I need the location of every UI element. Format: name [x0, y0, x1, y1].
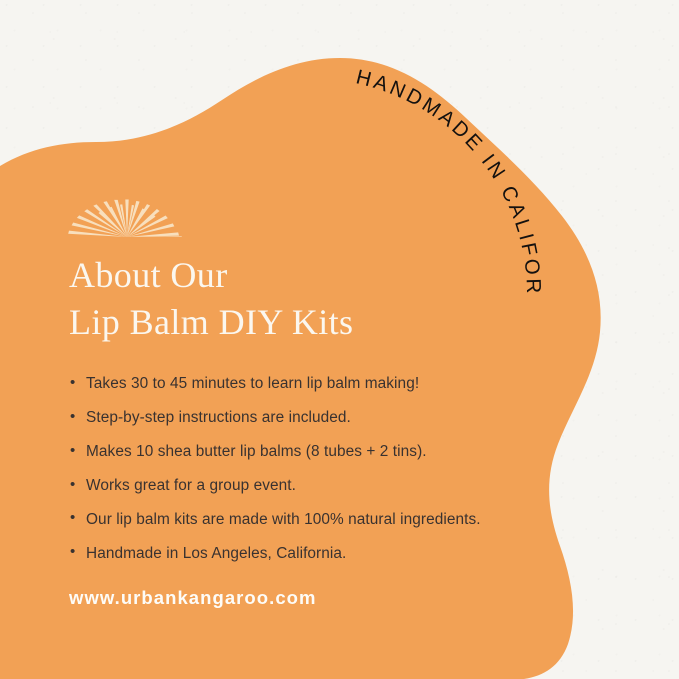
list-item: Our lip balm kits are made with 100% nat…: [69, 508, 549, 531]
list-item: Works great for a group event.: [69, 474, 549, 497]
list-item: Makes 10 shea butter lip balms (8 tubes …: [69, 440, 549, 463]
content-block: About Our Lip Balm DIY Kits Takes 30 to …: [69, 252, 549, 609]
list-item: Step-by-step instructions are included.: [69, 406, 549, 429]
list-item: Takes 30 to 45 minutes to learn lip balm…: [69, 372, 549, 395]
sunburst-icon: [68, 183, 186, 237]
product-info-poster: HANDMADE IN CALIFORNIA: [0, 0, 679, 679]
website-url[interactable]: www.urbankangaroo.com: [69, 587, 549, 609]
page-title: About Our Lip Balm DIY Kits: [69, 252, 549, 346]
list-item: Handmade in Los Angeles, California.: [69, 542, 549, 565]
feature-bullet-list: Takes 30 to 45 minutes to learn lip balm…: [69, 372, 549, 565]
